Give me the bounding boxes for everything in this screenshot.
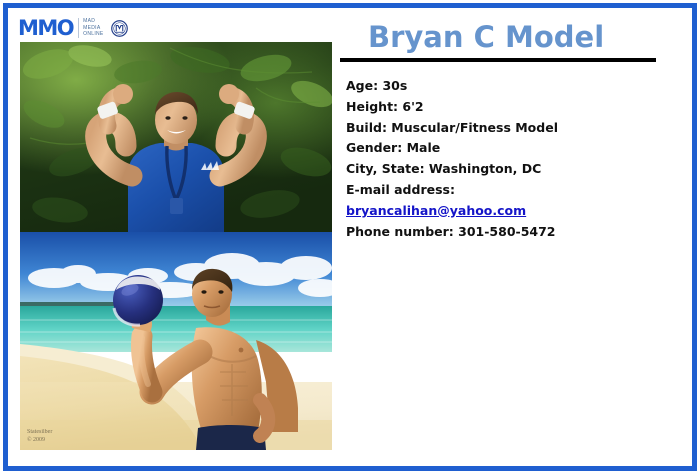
info-column: Bryan C Model Age: 30s Height: 6'2 Build… xyxy=(340,18,680,242)
photo-watermark-line-1: Statesilber xyxy=(27,429,52,437)
card-content-area: MMO Mad Media Online xyxy=(8,8,692,466)
photo-flexing-biceps-image xyxy=(20,42,332,232)
model-details-list: Age: 30s Height: 6'2 Build: Muscular/Fit… xyxy=(340,76,680,242)
photo-beach-ball-image xyxy=(20,232,332,450)
detail-build: Build: Muscular/Fitness Model xyxy=(346,118,680,139)
detail-gender: Gender: Male xyxy=(346,138,680,159)
mmo-emblem-icon xyxy=(111,20,128,37)
logo-divider xyxy=(78,18,79,38)
detail-city-state: City, State: Washington, DC xyxy=(346,159,680,180)
detail-age: Age: 30s xyxy=(346,76,680,97)
mmo-logo[interactable]: MMO Mad Media Online xyxy=(18,15,128,41)
photo-column: Statesilber © 2009 xyxy=(20,42,332,450)
detail-email-label: E-mail address: xyxy=(346,180,680,201)
logo-tagline-line-1: Mad xyxy=(83,18,103,25)
logo-tagline-line-3: Online xyxy=(83,31,103,38)
photo-watermark: Statesilber © 2009 xyxy=(27,429,52,444)
detail-height: Height: 6'2 xyxy=(346,97,680,118)
blue-frame-outer: MMO Mad Media Online xyxy=(3,3,697,471)
model-comp-card: MMO Mad Media Online xyxy=(0,0,700,474)
logo-tagline-line-2: Media xyxy=(83,25,103,32)
photo-watermark-line-2: © 2009 xyxy=(27,437,52,445)
page-title: Bryan C Model xyxy=(340,18,680,56)
photo-beach-ball[interactable]: Statesilber © 2009 xyxy=(20,232,332,450)
detail-phone: Phone number: 301-580-5472 xyxy=(346,222,680,243)
title-divider xyxy=(340,58,656,62)
logo-wordmark: MMO xyxy=(18,18,73,39)
detail-email-link[interactable]: bryancalihan@yahoo.com xyxy=(346,201,680,222)
logo-tagline: Mad Media Online xyxy=(83,18,103,38)
photo-flexing-biceps[interactable] xyxy=(20,42,332,232)
